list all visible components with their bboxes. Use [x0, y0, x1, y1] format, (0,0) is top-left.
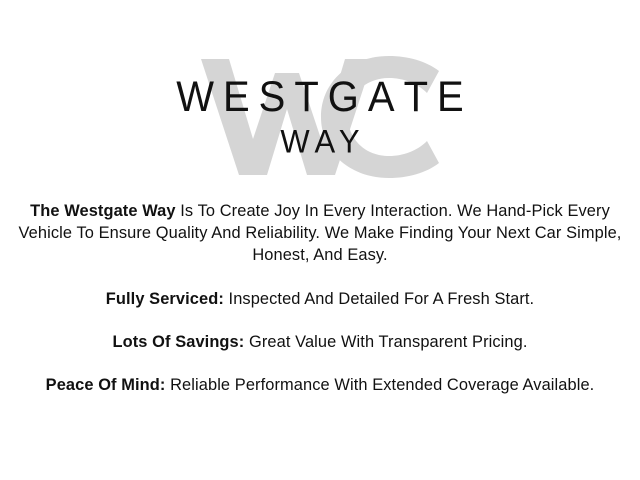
- wordmark-westgate-pre: WESTG: [176, 74, 368, 121]
- logo-block: WESTGATE WAY: [0, 52, 640, 182]
- feature-lots-of-savings-rest: Great Value With Transparent Pricing.: [244, 333, 527, 351]
- wordmark-westgate: WESTGATE: [176, 74, 472, 121]
- intro-lead: The Westgate Way: [30, 202, 176, 220]
- feature-peace-of-mind-lead: Peace Of Mind:: [46, 376, 166, 394]
- intro-paragraph: The Westgate Way Is To Create Joy In Eve…: [12, 200, 628, 266]
- wordmark-way: WAY: [280, 124, 365, 160]
- feature-fully-serviced-lead: Fully Serviced:: [106, 290, 224, 308]
- wordmark-westgate-a: A: [368, 74, 404, 121]
- wordmark-westgate-post: TE: [404, 74, 473, 121]
- wordmark-way-a: A: [315, 123, 339, 160]
- westgate-way-panel: WESTGATE WAY The Westgate Way Is To Crea…: [0, 0, 640, 480]
- value-proposition-copy: The Westgate Way Is To Create Joy In Eve…: [12, 200, 628, 396]
- feature-peace-of-mind: Peace Of Mind: Reliable Performance With…: [12, 374, 628, 396]
- feature-fully-serviced-rest: Inspected And Detailed For A Fresh Start…: [224, 290, 534, 308]
- feature-peace-of-mind-rest: Reliable Performance With Extended Cover…: [165, 376, 594, 394]
- feature-fully-serviced: Fully Serviced: Inspected And Detailed F…: [12, 288, 628, 310]
- wordmark-way-post: Y: [339, 123, 366, 160]
- feature-lots-of-savings: Lots Of Savings: Great Value With Transp…: [12, 331, 628, 353]
- feature-lots-of-savings-lead: Lots Of Savings:: [112, 333, 244, 351]
- wordmark-way-pre: W: [280, 123, 314, 160]
- wordmark-stack: WESTGATE WAY: [0, 52, 640, 182]
